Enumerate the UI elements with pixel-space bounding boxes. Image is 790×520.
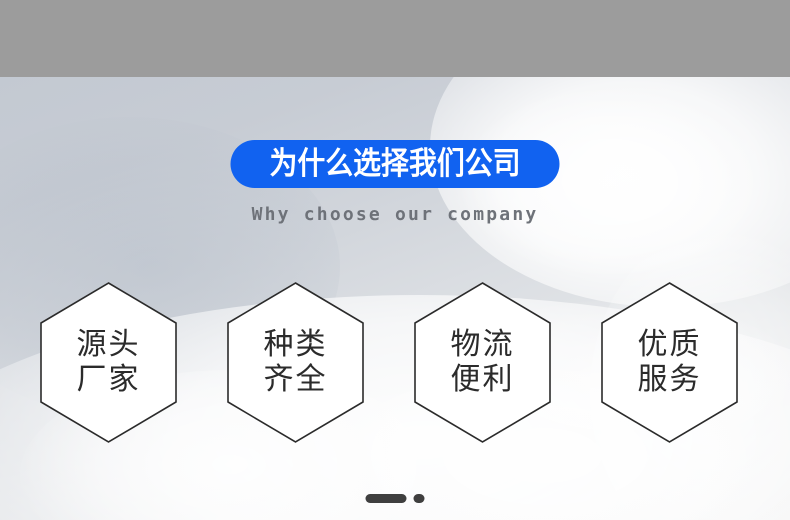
feature-hexagon-4[interactable]: 优质 服务 — [601, 282, 738, 443]
feature-hexagon-1[interactable]: 源头 厂家 — [40, 282, 177, 443]
feature-hexagon-1-label: 源头 厂家 — [77, 327, 141, 398]
feature-hexagon-4-label: 优质 服务 — [638, 327, 702, 398]
banner-content: 为什么选择我们公司 Why choose our company 源头 厂家 — [0, 77, 790, 520]
carousel-pagination[interactable] — [366, 494, 425, 503]
top-status-bar — [0, 0, 790, 77]
pager-dot-2[interactable] — [414, 494, 425, 503]
section-title-text: 为什么选择我们公司 — [269, 149, 520, 180]
feature-hexagon-3-label: 物流 便利 — [451, 327, 515, 398]
feature-hexagon-row: 源头 厂家 种类 齐全 物流 便利 — [40, 281, 738, 443]
pager-dot-1[interactable] — [366, 494, 407, 503]
section-subtitle: Why choose our company — [252, 204, 539, 225]
feature-hexagon-2-label: 种类 齐全 — [264, 327, 328, 398]
section-title-badge: 为什么选择我们公司 — [231, 140, 560, 188]
feature-hexagon-2[interactable]: 种类 齐全 — [227, 282, 364, 443]
feature-hexagon-3[interactable]: 物流 便利 — [414, 282, 551, 443]
promo-banner-screen: 为什么选择我们公司 Why choose our company 源头 厂家 — [0, 0, 790, 520]
